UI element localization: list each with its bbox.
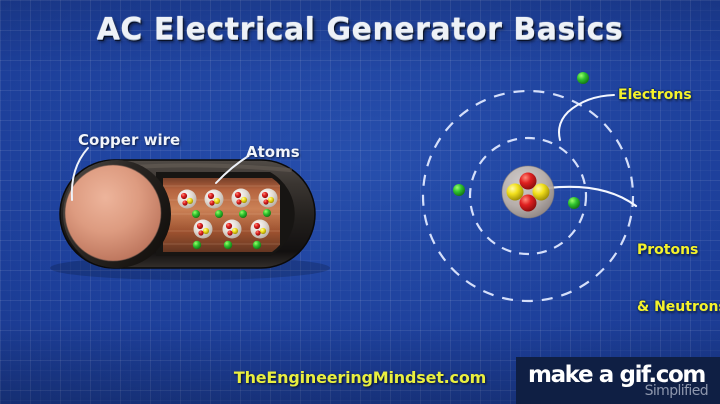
- label-atoms: Atoms: [246, 143, 300, 161]
- makeagif-name: make a gif: [528, 362, 648, 388]
- label-neutrons-line: & Neutrons: [637, 298, 720, 317]
- slide-canvas: AC Electrical Generator Basics: [0, 0, 720, 404]
- electron: [568, 197, 580, 209]
- atom-nucleus: [502, 166, 554, 218]
- neutron: [533, 184, 550, 201]
- leader-line-protons-neutrons: [548, 187, 636, 206]
- label-electrons: Electrons: [618, 86, 692, 105]
- proton: [520, 173, 537, 190]
- electron: [577, 72, 589, 84]
- makeagif-tagline: Simplified: [645, 383, 708, 399]
- label-protons-line: Protons: [637, 241, 720, 260]
- makeagif-watermark: make a gif.com Simplified: [516, 357, 720, 404]
- atom-illustration: [0, 0, 720, 404]
- label-copper-wire: Copper wire: [78, 131, 180, 149]
- label-protons-neutrons: Protons & Neutrons: [637, 203, 720, 355]
- leader-line-electrons: [559, 95, 614, 140]
- proton: [520, 195, 537, 212]
- page-title: AC Electrical Generator Basics: [0, 12, 720, 47]
- electron: [453, 184, 465, 196]
- neutron: [507, 184, 524, 201]
